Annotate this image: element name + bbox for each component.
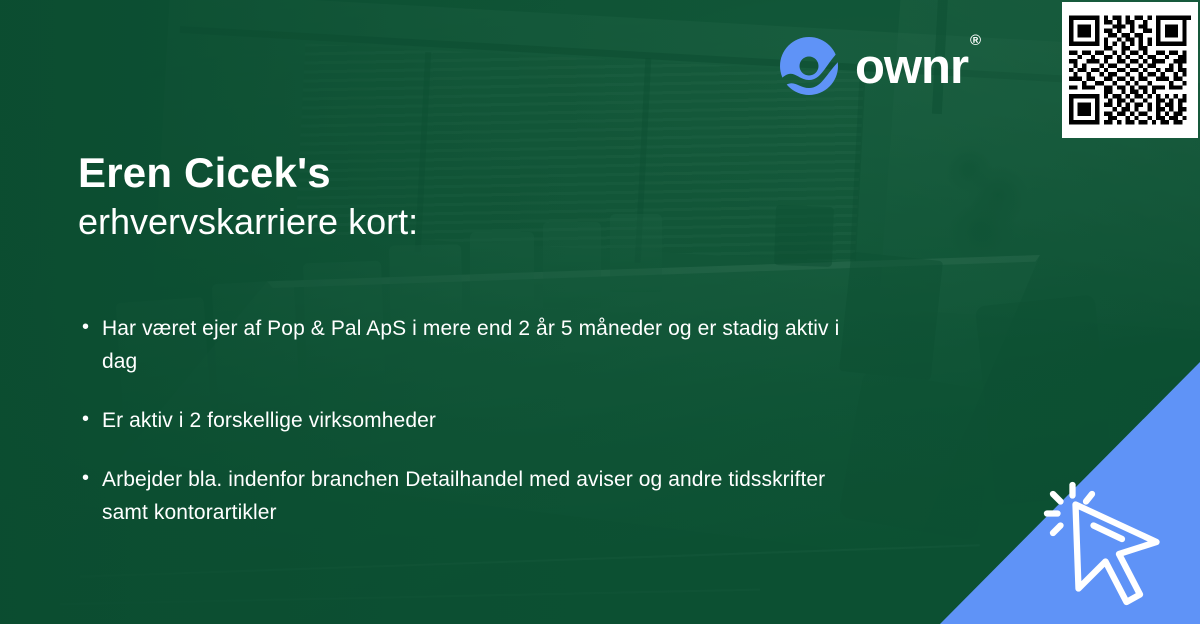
card-subtitle: erhvervskarriere kort: — [78, 199, 838, 244]
list-item: • Arbejder bla. indenfor branchen Detail… — [82, 463, 932, 529]
career-facts-list: • Har været ejer af Pop & Pal ApS i mere… — [82, 312, 932, 529]
corner-badge — [940, 362, 1200, 624]
registered-trademark-icon: ® — [970, 32, 980, 49]
bullet-marker-icon: • — [82, 312, 102, 342]
qr-code[interactable] — [1062, 2, 1198, 138]
brand-name: ownr — [855, 40, 968, 94]
list-item-text: Har været ejer af Pop & Pal ApS i mere e… — [102, 312, 862, 378]
list-item: • Er aktiv i 2 forskellige virksomheder — [82, 404, 932, 437]
qr-code-icon — [1069, 9, 1191, 131]
ownr-logo[interactable]: ownr® — [779, 36, 978, 96]
click-cursor-icon — [1032, 464, 1182, 614]
page-title: Eren Cicek's erhvervskarriere kort: — [78, 150, 838, 244]
list-item-text: Er aktiv i 2 forskellige virksomheder — [102, 404, 436, 437]
blue-corner-triangle — [940, 362, 1200, 624]
business-career-card: ownr® Eren Cicek's erhvervskarriere kort… — [0, 0, 1200, 624]
list-item: • Har været ejer af Pop & Pal ApS i mere… — [82, 312, 932, 378]
list-item-text: Arbejder bla. indenfor branchen Detailha… — [102, 463, 862, 529]
ownr-wordmark: ownr® — [855, 43, 978, 92]
person-name: Eren Cicek's — [78, 150, 838, 195]
bullet-marker-icon: • — [82, 404, 102, 434]
bullet-marker-icon: • — [82, 463, 102, 493]
ownr-circle-swoosh-logo-icon — [779, 36, 839, 96]
